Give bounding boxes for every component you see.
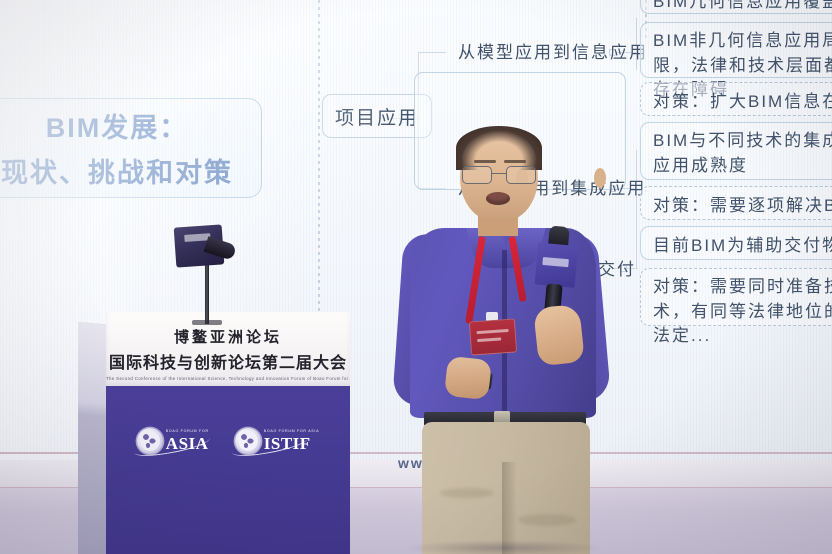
- logo-1-small-text: BOAO FORUM FOR ASIA: [264, 430, 319, 434]
- mindmap-root-label: 项目应用: [335, 103, 419, 130]
- logo-boao-forum-asia: BOAO FORUM FOR ASIA: [137, 428, 209, 454]
- globe-icon: [235, 428, 261, 454]
- glasses-bridge: [492, 173, 506, 174]
- speaker-mouth: [486, 192, 510, 205]
- mindmap-leaf-label-2: 对策：扩大BIM信息在...: [653, 87, 832, 112]
- mindmap-leaf-node-6[interactable]: 对策：需要同时准备技术，有同等法律地位的法定...: [640, 268, 832, 326]
- microphone-flag-logo: [542, 257, 569, 267]
- glasses-lens-right: [506, 166, 536, 184]
- ear-right: [594, 168, 606, 188]
- mindmap-branch-node-0[interactable]: 从模型应用到信息应用: [446, 32, 660, 68]
- camera-brand-badge: [184, 233, 210, 242]
- podium-title-english: The Second Conference of the Internation…: [106, 376, 350, 381]
- camera-stand-base: [192, 320, 222, 325]
- podium-title-line-2: 国际科技与创新论坛第二届大会: [106, 349, 350, 373]
- logo-0-small-text: BOAO FORUM FOR: [166, 430, 209, 434]
- connector-branch-1: [418, 52, 446, 53]
- slide-title-line-1: BIM发展：: [46, 106, 189, 145]
- podium-logo-row: BOAO FORUM FOR ASIA BOAO FORUM FOR ASIA …: [106, 428, 350, 454]
- mindmap-leaf-node-5[interactable]: 目前BIM为辅助交付物，...: [640, 226, 832, 260]
- screenshot-root: BIM发展： 现状、挑战和对策 项目应用 从模型应用到信息应用 从BIM应用到集…: [0, 0, 832, 554]
- logo-1-big-text: ISTIF: [264, 435, 319, 452]
- podium: 博鳌亚洲论坛 国际科技与创新论坛第二届大会 The Second Confere…: [78, 312, 350, 554]
- podium-front-panel: [106, 386, 350, 554]
- badge-text-line: [477, 337, 501, 341]
- speaker-right-hand: [533, 304, 585, 366]
- mindmap-leaf-label-5: 目前BIM为辅助交付物，...: [653, 231, 832, 256]
- mindmap-leaf-label-0: BIM几何信息应用覆盖面: [653, 0, 832, 12]
- logo-0-big-text: ASIA: [166, 435, 209, 452]
- slide-title-line-2: 现状、挑战和对策: [1, 151, 233, 190]
- mindmap-branch-label-0: 从模型应用到信息应用: [458, 38, 648, 63]
- podium-title-line-1: 博鳌亚洲论坛: [106, 326, 350, 347]
- mindmap-leaf-label-4: 对策：需要逐项解决BIM...: [653, 191, 832, 216]
- speaker-trousers: [422, 422, 590, 554]
- badge-text-line: [477, 329, 509, 334]
- mindmap-leaf-label-3: BIM与不同技术的集成应用成熟度: [653, 129, 832, 178]
- trouser-fold: [440, 488, 494, 498]
- podium-signage: 博鳌亚洲论坛 国际科技与创新论坛第二届大会 The Second Confere…: [106, 326, 350, 381]
- mindmap-leaf-node-1[interactable]: BIM非几何信息应用局限，法律和技术层面都存在障碍: [640, 22, 832, 78]
- mindmap-leaf-node-2[interactable]: 对策：扩大BIM信息在...: [640, 82, 832, 116]
- camera-body: [174, 224, 225, 267]
- mindmap-leaf-node-0[interactable]: BIM几何信息应用覆盖面: [640, 0, 832, 14]
- speaker-shadow: [404, 540, 604, 554]
- speaker-left-hand: [444, 356, 492, 400]
- glasses-icon: [462, 166, 536, 184]
- trouser-fold: [518, 514, 576, 526]
- speaker: [398, 130, 608, 554]
- mindmap-leaf-node-4[interactable]: 对策：需要逐项解决BIM...: [640, 186, 832, 220]
- logo-istif: BOAO FORUM FOR ASIA ISTIF: [235, 428, 319, 454]
- slide-title-box: BIM发展： 现状、挑战和对策: [0, 98, 262, 198]
- speaker-badge: [469, 318, 517, 355]
- microphone-flag: [535, 243, 579, 288]
- globe-icon: [137, 428, 163, 454]
- mindmap-leaf-label-6: 对策：需要同时准备技术，有同等法律地位的法定...: [653, 275, 832, 349]
- glasses-lens-left: [462, 166, 492, 184]
- speaker-hair: [456, 126, 542, 170]
- mindmap-leaf-node-3[interactable]: BIM与不同技术的集成应用成熟度: [640, 122, 832, 180]
